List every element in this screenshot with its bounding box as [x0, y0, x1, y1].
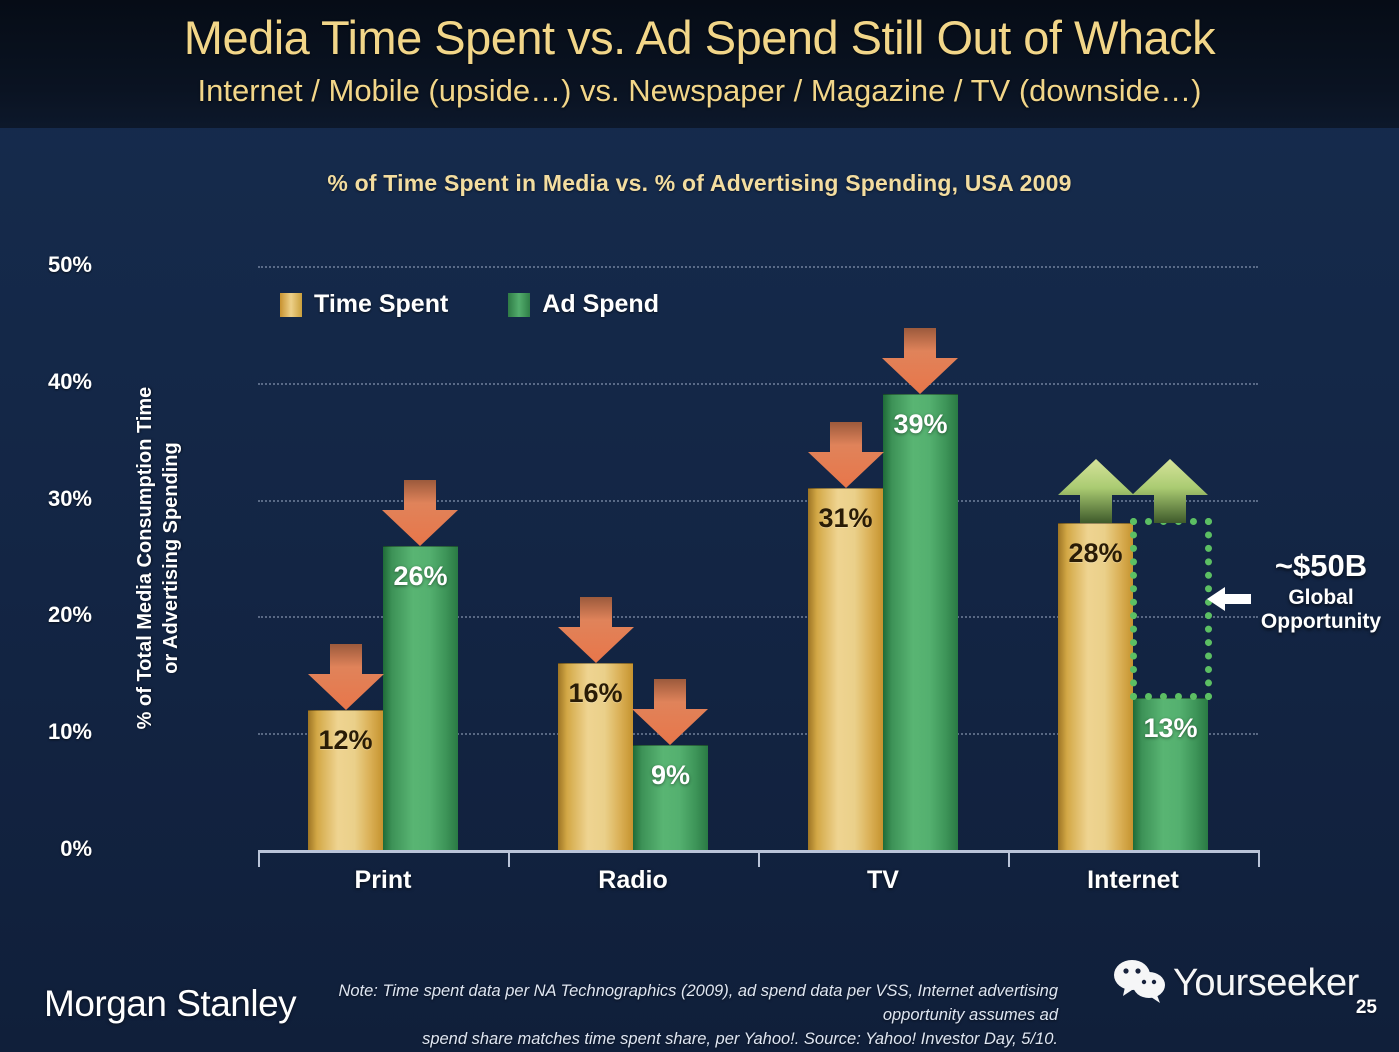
x-tick-label-tv: TV: [758, 866, 1008, 895]
bar-label-tv-ad-spend: 39%: [883, 409, 958, 440]
y-tick-label-50: 50%: [2, 252, 92, 278]
x-tick-label-radio: Radio: [508, 866, 758, 895]
legend-swatch-ad-spend: [508, 293, 530, 317]
bar-print-ad-spend[interactable]: 26%: [383, 546, 458, 850]
chart-title: % of Time Spent in Media vs. % of Advert…: [0, 170, 1399, 197]
bar-radio-ad-spend[interactable]: 9%: [633, 745, 708, 850]
down-arrow-icon-tv-time-spent: [806, 422, 886, 490]
bar-label-tv-time-spent: 31%: [808, 503, 883, 534]
y-tick-label-30: 30%: [2, 486, 92, 512]
bar-tv-ad-spend[interactable]: 39%: [883, 394, 958, 850]
opportunity-annotation: ~$50B Global Opportunity: [1246, 550, 1396, 635]
gridline-50: [258, 266, 1258, 268]
down-arrow-icon-tv-ad-spend: [880, 328, 960, 396]
bar-tv-time-spent[interactable]: 31%: [808, 488, 883, 850]
footnote-line1: Note: Time spent data per NA Technograph…: [318, 980, 1058, 1028]
page-subtitle: Internet / Mobile (upside…) vs. Newspape…: [0, 61, 1399, 106]
annotation-value: ~$50B: [1246, 550, 1396, 583]
down-arrow-icon-radio-time-spent: [556, 597, 636, 665]
bar-label-internet-ad-spend: 13%: [1133, 713, 1208, 744]
bar-radio-time-spent[interactable]: 16%: [558, 663, 633, 850]
opportunity-box: [1130, 518, 1212, 700]
brand-logo: Morgan Stanley: [44, 983, 296, 1025]
x-axis-tick-2: [758, 850, 760, 867]
watermark: Yourseeker: [1113, 958, 1359, 1009]
down-arrow-icon-print-ad-spend: [380, 480, 460, 548]
x-axis-tick-3: [1008, 850, 1010, 867]
bar-label-print-time-spent: 12%: [308, 725, 383, 756]
slide-canvas: Media Time Spent vs. Ad Spend Still Out …: [0, 0, 1399, 1052]
bar-label-radio-time-spent: 16%: [558, 678, 633, 709]
footnote-line2: spend share matches time spent share, pe…: [318, 1028, 1058, 1052]
up-arrow-icon-internet-ad-spend: [1130, 459, 1210, 525]
gridline-40: [258, 383, 1258, 385]
bar-label-internet-time-spent: 28%: [1058, 538, 1133, 569]
annotation-sub-line1: Global: [1246, 586, 1396, 611]
down-arrow-icon-radio-ad-spend: [630, 679, 710, 747]
y-axis-title-line1: % of Total Media Consumption Time: [132, 387, 158, 730]
chart-legend: Time Spent Ad Spend: [280, 290, 659, 319]
up-arrow-icon-internet-time-spent: [1056, 459, 1136, 525]
bar-label-print-ad-spend: 26%: [383, 561, 458, 592]
y-tick-label-20: 20%: [2, 602, 92, 628]
x-axis-cap-left: [258, 850, 260, 867]
page-number: 25: [1356, 997, 1377, 1019]
legend-label-time-spent: Time Spent: [314, 290, 448, 319]
chart-plot-area: % of Total Media Consumption Time or Adv…: [258, 266, 1258, 850]
x-tick-label-print: Print: [258, 866, 508, 895]
legend-swatch-time-spent: [280, 293, 302, 317]
slide-header: Media Time Spent vs. Ad Spend Still Out …: [0, 0, 1399, 128]
bar-label-radio-ad-spend: 9%: [633, 760, 708, 791]
down-arrow-icon-print-time-spent: [306, 644, 386, 712]
bar-internet-ad-spend[interactable]: 13%: [1133, 698, 1208, 850]
y-tick-label-0: 0%: [2, 836, 92, 862]
page-title: Media Time Spent vs. Ad Spend Still Out …: [0, 0, 1399, 61]
left-arrow-icon-annotation: [1207, 585, 1251, 613]
watermark-text: Yourseeker: [1173, 962, 1359, 1005]
bar-internet-time-spent[interactable]: 28%: [1058, 523, 1133, 850]
legend-item-time-spent[interactable]: Time Spent: [280, 290, 448, 319]
bar-print-time-spent[interactable]: 12%: [308, 710, 383, 850]
x-tick-label-internet: Internet: [1008, 866, 1258, 895]
y-tick-label-10: 10%: [2, 719, 92, 745]
y-axis-title: % of Total Media Consumption Time or Adv…: [128, 266, 188, 850]
legend-label-ad-spend: Ad Spend: [542, 290, 659, 319]
annotation-sub-line2: Opportunity: [1246, 610, 1396, 635]
legend-item-ad-spend[interactable]: Ad Spend: [508, 290, 659, 319]
footnote: Note: Time spent data per NA Technograph…: [318, 980, 1058, 1052]
wechat-icon: [1113, 958, 1167, 1009]
y-axis-title-line2: or Advertising Spending: [158, 387, 184, 730]
x-axis-tick-1: [508, 850, 510, 867]
x-axis-cap-right: [1258, 850, 1260, 867]
y-tick-label-40: 40%: [2, 369, 92, 395]
